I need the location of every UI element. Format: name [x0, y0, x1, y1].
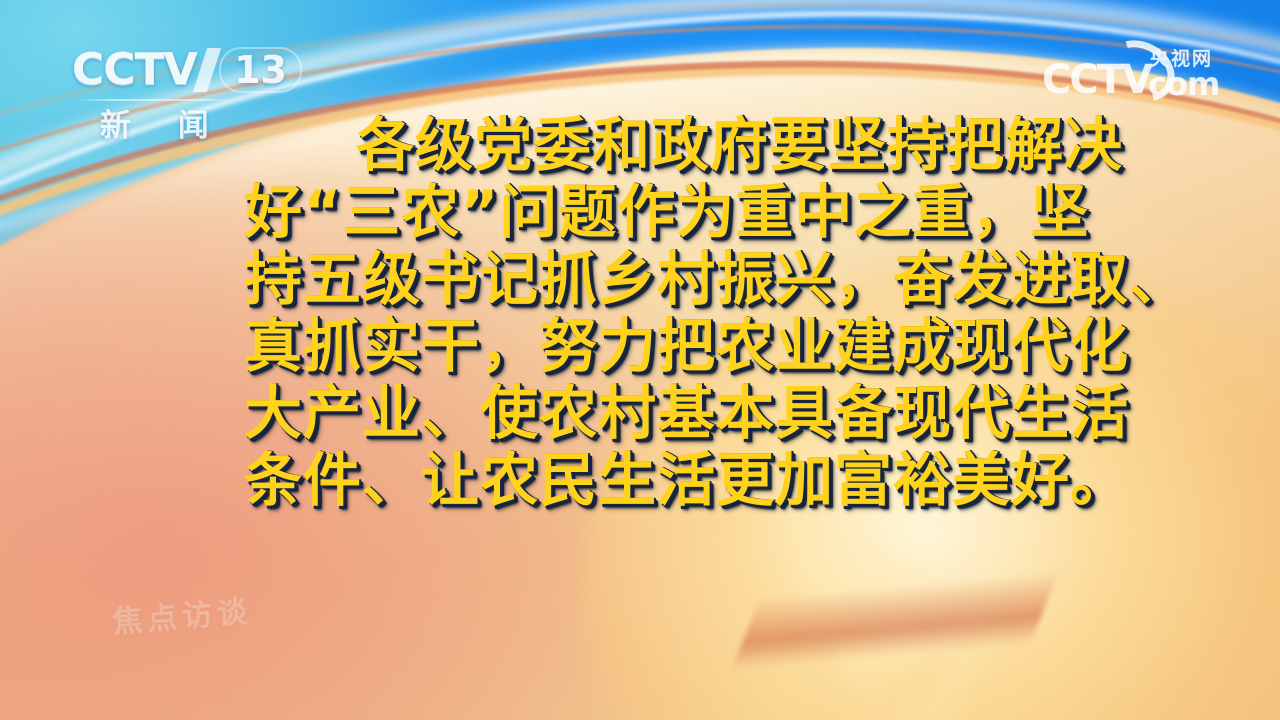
quote-line: 真抓实干，努力把农业建成现代化 — [244, 313, 1056, 380]
broadcast-frame: CCTV 13 新 闻 CCTV 央视网 com 焦点访谈 各级党委和政府要坚持… — [0, 0, 1280, 720]
channel-name-label: 新 闻 — [100, 100, 227, 145]
cctv-wordmark: CCTV — [72, 48, 197, 92]
quote-line: 好“三农”问题作为重中之重，坚 — [244, 179, 1056, 246]
quote-line: 各级党委和政府要坚持把解决 — [244, 112, 1056, 179]
quote-line: 持五级书记抓乡村振兴，奋发进取、 — [244, 246, 1056, 313]
quote-text-block: 各级党委和政府要坚持把解决 好“三农”问题作为重中之重，坚 持五级书记抓乡村振兴… — [244, 112, 1056, 514]
channel-number-badge: 13 — [219, 47, 302, 93]
channel-bug-row: CCTV 13 — [72, 44, 302, 96]
channel-number: 13 — [234, 48, 287, 92]
quote-line: 条件、让农民生活更加富裕美好。 — [244, 447, 1056, 514]
site-watermark: CCTV 央视网 com — [1042, 40, 1232, 106]
quote-line: 大产业、使农村基本具备现代生活 — [244, 380, 1056, 447]
site-tld: com — [1148, 68, 1219, 100]
